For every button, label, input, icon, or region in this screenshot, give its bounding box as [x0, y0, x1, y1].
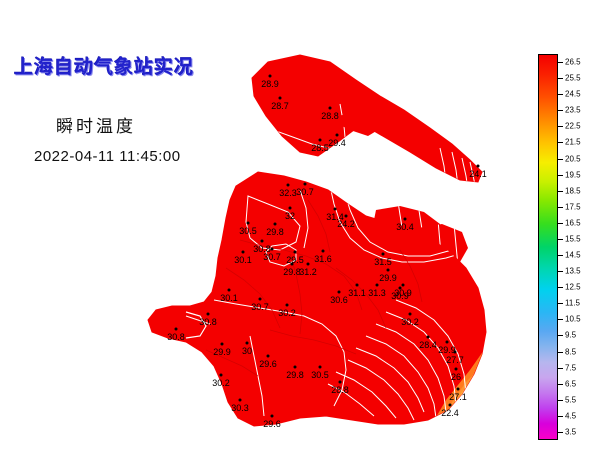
station-marker — [334, 208, 337, 211]
station-marker — [259, 298, 262, 301]
station-value-label: 30.4 — [396, 222, 414, 232]
colorbar-tick-label: 24.5 — [565, 90, 581, 99]
colorbar-tick — [558, 207, 563, 208]
station-marker — [207, 313, 210, 316]
colorbar-tick-label: 7.5 — [565, 363, 576, 372]
station-value-label: 30.6 — [330, 295, 348, 305]
station-value-label: 29.8 — [283, 267, 301, 277]
colorbar-tick-label: 25.5 — [565, 74, 581, 83]
station-marker — [271, 415, 274, 418]
station-value-label: 31.3 — [368, 288, 386, 298]
colorbar-tick-label: 11.5 — [565, 299, 580, 308]
station-value-label: 30.1 — [220, 293, 238, 303]
colorbar-tick-label: 9.5 — [565, 331, 576, 340]
colorbar-tick — [558, 352, 563, 353]
station-marker — [286, 304, 289, 307]
station-marker — [322, 250, 325, 253]
station-marker — [399, 287, 402, 290]
station-value-label: 30.1 — [234, 255, 252, 265]
station-value-label: 30.5 — [311, 370, 329, 380]
station-value-label: 28.4 — [419, 340, 437, 350]
station-value-label: 30.2 — [401, 317, 419, 327]
station-value-label: 31.1 — [348, 288, 366, 298]
station-value-label: 30.7 — [263, 252, 281, 262]
station-marker — [319, 139, 322, 142]
colorbar-tick — [558, 416, 563, 417]
colorbar-tick — [558, 303, 563, 304]
station-value-label: 24.2 — [337, 219, 355, 229]
station-marker — [339, 381, 342, 384]
colorbar-tick — [558, 384, 563, 385]
colorbar-tick-label: 20.5 — [565, 154, 581, 163]
station-value-label: 30.3 — [231, 403, 249, 413]
colorbar-tick-label: 8.5 — [565, 347, 576, 356]
station-value-label: 28.8 — [321, 111, 339, 121]
station-marker — [294, 251, 297, 254]
colorbar-tick — [558, 432, 563, 433]
station-marker — [175, 328, 178, 331]
station-marker — [228, 289, 231, 292]
colorbar-tick — [558, 223, 563, 224]
colorbar-tick — [558, 62, 563, 63]
station-value-label: 28.7 — [271, 101, 289, 111]
station-marker — [220, 374, 223, 377]
colorbar-tick — [558, 159, 563, 160]
station-value-label: 24.1 — [469, 169, 487, 179]
colorbar-tick — [558, 287, 563, 288]
colorbar-tick — [558, 78, 563, 79]
colorbar-tick-label: 14.5 — [565, 251, 581, 260]
station-marker — [387, 269, 390, 272]
station-value-label: 30.2 — [278, 308, 296, 318]
mainland-shanghai — [148, 172, 488, 426]
station-marker — [304, 183, 307, 186]
station-marker — [345, 215, 348, 218]
station-marker — [338, 291, 341, 294]
colorbar-tick — [558, 94, 563, 95]
station-value-label: 28.5 — [311, 143, 329, 153]
station-value-label: 28.8 — [331, 385, 349, 395]
station-marker — [454, 351, 457, 354]
colorbar-tick-label: 16.5 — [565, 218, 581, 227]
colorbar-tick-label: 13.5 — [565, 267, 581, 276]
station-value-label: 29.5 — [286, 255, 304, 265]
station-value-label: 29.6 — [259, 359, 277, 369]
station-marker — [457, 388, 460, 391]
colorbar-tick — [558, 368, 563, 369]
station-value-label: 31.6 — [314, 254, 332, 264]
colorbar-tick-label: 5.5 — [565, 395, 576, 404]
colorbar-tick-label: 26.5 — [565, 58, 581, 67]
station-value-label: 32.3 — [279, 188, 297, 198]
station-marker — [279, 97, 282, 100]
station-marker — [402, 284, 405, 287]
station-value-label: 31.5 — [374, 257, 392, 267]
station-value-label: 30.8 — [167, 332, 185, 342]
station-marker — [287, 184, 290, 187]
shanghai-temperature-map — [0, 0, 600, 473]
colorbar-tick-label: 4.5 — [565, 411, 576, 420]
colorbar-tick — [558, 271, 563, 272]
colorbar-tick-label: 23.5 — [565, 106, 581, 115]
station-marker — [329, 107, 332, 110]
station-marker — [239, 399, 242, 402]
station-marker — [376, 284, 379, 287]
colorbar-tick — [558, 191, 563, 192]
station-value-label: 29.6 — [263, 419, 281, 429]
station-marker — [404, 218, 407, 221]
colorbar-tick — [558, 239, 563, 240]
colorbar-tick-label: 18.5 — [565, 186, 581, 195]
colorbar-tick-label: 22.5 — [565, 122, 581, 131]
station-marker — [446, 341, 449, 344]
colorbar-tick — [558, 400, 563, 401]
station-marker — [382, 253, 385, 256]
station-value-label: 29.4 — [328, 138, 346, 148]
station-marker — [247, 222, 250, 225]
station-marker — [271, 248, 274, 251]
station-value-label: 30.2 — [212, 378, 230, 388]
station-value-label: 30.5 — [239, 226, 257, 236]
colorbar-tick-label: 12.5 — [565, 283, 581, 292]
station-value-label: 27.1 — [449, 392, 467, 402]
station-value-label: 28.9 — [261, 79, 279, 89]
colorbar-tick-label: 3.5 — [565, 427, 576, 436]
station-marker — [409, 313, 412, 316]
station-marker — [477, 165, 480, 168]
colorbar-tick-label: 19.5 — [565, 170, 581, 179]
colorbar-tick-label: 10.5 — [565, 315, 581, 324]
weather-map-canvas: 上海自动气象站实况 瞬时温度 2022-04-11 11:45:00 — [0, 0, 600, 473]
station-marker — [455, 368, 458, 371]
station-value-label: 29.9 — [379, 273, 397, 283]
station-value-label: 32 — [285, 211, 295, 221]
station-marker — [221, 343, 224, 346]
station-value-label: 30 — [242, 346, 252, 356]
station-value-label: 30.7 — [251, 302, 269, 312]
station-value-label: 29.8 — [266, 227, 284, 237]
station-value-label: 31.2 — [299, 267, 317, 277]
colorbar-tick-label: 15.5 — [565, 234, 581, 243]
station-marker — [449, 404, 452, 407]
colorbar-tick-label: 17.5 — [565, 202, 581, 211]
station-value-label: 30.8 — [199, 317, 217, 327]
colorbar-tick — [558, 255, 563, 256]
station-marker — [307, 263, 310, 266]
station-value-label: 30.9 — [391, 291, 409, 301]
station-marker — [319, 366, 322, 369]
station-marker — [261, 240, 264, 243]
station-marker — [242, 251, 245, 254]
station-marker — [267, 355, 270, 358]
colorbar-tick — [558, 335, 563, 336]
station-value-label: 22.4 — [441, 408, 459, 418]
station-value-label: 26 — [451, 372, 461, 382]
station-marker — [246, 342, 249, 345]
colorbar-tick — [558, 110, 563, 111]
colorbar-tick-label: 6.5 — [565, 379, 576, 388]
station-value-label: 29.8 — [286, 370, 304, 380]
station-marker — [269, 75, 272, 78]
station-marker — [427, 336, 430, 339]
colorbar-tick — [558, 175, 563, 176]
station-marker — [274, 223, 277, 226]
station-marker — [294, 366, 297, 369]
station-value-label: 30.7 — [296, 187, 314, 197]
station-marker — [291, 263, 294, 266]
colorbar-gradient-strip — [538, 54, 558, 440]
colorbar-tick — [558, 142, 563, 143]
station-marker — [289, 207, 292, 210]
station-value-label: 29.9 — [213, 347, 231, 357]
temperature-colorbar: 26.525.524.523.522.521.520.519.518.517.5… — [538, 54, 598, 444]
station-marker — [336, 134, 339, 137]
station-value-label: 27.7 — [446, 355, 464, 365]
colorbar-tick-label: 21.5 — [565, 138, 581, 147]
station-marker — [356, 284, 359, 287]
colorbar-tick — [558, 319, 563, 320]
colorbar-tick — [558, 126, 563, 127]
